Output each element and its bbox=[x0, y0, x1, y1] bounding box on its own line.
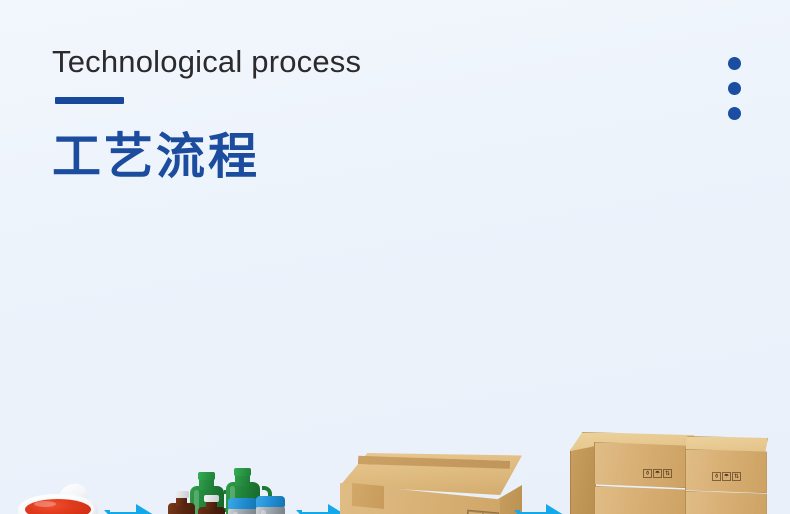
process-infographic: Technological process 工艺流程 bbox=[0, 0, 790, 514]
bottle-highlight bbox=[261, 510, 266, 514]
shipping-marks-row: ⚱ ☂ ⇅ bbox=[712, 472, 741, 481]
bottle-cap bbox=[198, 472, 215, 480]
stage-icon-materials bbox=[18, 484, 100, 514]
mark-this-side-up-icon: ⇅ bbox=[663, 469, 672, 478]
pallet-box-side-left bbox=[570, 446, 596, 514]
bottle-cap bbox=[228, 498, 257, 509]
shipping-marks-row: ⚱ ☂ ⇅ bbox=[643, 469, 672, 478]
pallet-box-upper-left: ⚱ ☂ ⇅ bbox=[594, 442, 686, 488]
bottle-cap bbox=[234, 468, 251, 476]
sauce-highlight bbox=[34, 501, 56, 507]
vertical-dots-decoration bbox=[728, 57, 744, 123]
carton-flap-tab bbox=[352, 483, 384, 509]
bottle-cap bbox=[174, 491, 189, 498]
pallet-box-upper-right: ⚱ ☂ ⇅ bbox=[685, 449, 767, 493]
silver-bottle-left bbox=[228, 498, 258, 514]
title-underline-rule bbox=[55, 97, 124, 104]
stage-icon-carton: ⚱ ⇅ ☂ ⚖ ⚱ ⇅ ☂ ⚖ bbox=[340, 453, 522, 514]
pallet-box-lower-right: ⚱ ☂ ⇅ bbox=[685, 491, 767, 514]
silver-bottle-right bbox=[256, 496, 286, 514]
mark-keep-dry-icon: ☂ bbox=[722, 472, 731, 481]
right-arrow-icon bbox=[514, 504, 568, 514]
pallet-box-lower-left: ⚱ ☂ ⇅ bbox=[594, 486, 686, 514]
process-flow: ⚱ ⇅ ☂ ⚖ ⚱ ⇅ ☂ ⚖ bbox=[0, 200, 790, 450]
dot-icon bbox=[728, 82, 741, 95]
mark-fragile-icon: ⚱ bbox=[643, 469, 652, 478]
sauce-liquid bbox=[25, 499, 91, 514]
header: Technological process 工艺流程 bbox=[0, 0, 790, 200]
mark-keep-dry-icon: ☂ bbox=[653, 469, 662, 478]
stage-icon-filling bbox=[168, 470, 286, 514]
mark-fragile-icon: ⚱ bbox=[712, 472, 721, 481]
mark-this-side-up-icon: ⇅ bbox=[732, 472, 741, 481]
dot-icon bbox=[728, 57, 741, 70]
amber-bottle-left bbox=[168, 494, 196, 514]
bottle-cap bbox=[256, 496, 285, 507]
dot-icon bbox=[728, 107, 741, 120]
right-arrow-icon bbox=[104, 504, 158, 514]
amber-bottle-center bbox=[198, 498, 226, 514]
page-title-english: Technological process bbox=[52, 44, 361, 80]
bottle-cap bbox=[204, 495, 219, 502]
stage-icon-palletizing: ⚱ ☂ ⇅ ⚱ ☂ ⇅ ⚱ ☂ ⇅ bbox=[566, 428, 774, 514]
page-title-chinese: 工艺流程 bbox=[52, 117, 260, 188]
